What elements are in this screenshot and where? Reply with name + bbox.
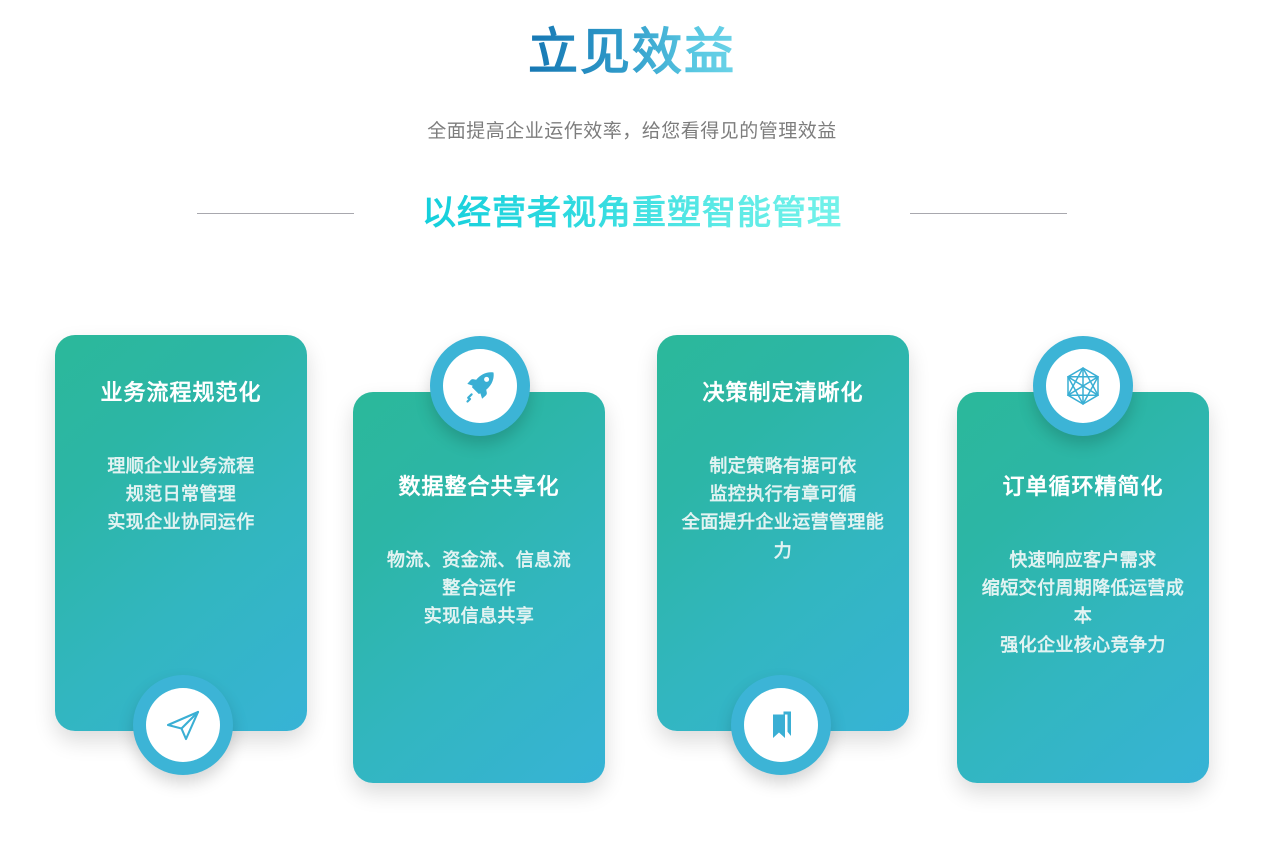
- card-description: 理顺企业业务流程 规范日常管理 实现企业协同运作: [71, 408, 291, 537]
- divider-left: [197, 213, 354, 214]
- benefit-card[interactable]: 数据整合共享化 物流、资金流、信息流 整合运作 实现信息共享: [353, 392, 605, 783]
- section-heading: 以经营者视角重塑智能管理: [422, 195, 842, 232]
- page-header: 立见效益 全面提高企业运作效率，给您看得见的管理效益 以经营者视角重塑智能管理: [0, 0, 1264, 232]
- icon-badge-inner: [443, 349, 517, 423]
- card-description: 制定策略有据可依 监控执行有章可循 全面提升企业运营管理能力: [673, 408, 893, 566]
- card-title: 决策制定清晰化: [673, 335, 893, 408]
- page-title: 立见效益: [528, 24, 736, 82]
- benefit-card[interactable]: 决策制定清晰化 制定策略有据可依 监控执行有章可循 全面提升企业运营管理能力: [657, 335, 909, 731]
- rocket-icon: [460, 366, 500, 406]
- benefit-card[interactable]: 订单循环精简化 快速响应客户需求 缩短交付周期降低运营成本 强化企业核心竞争力: [957, 392, 1209, 783]
- hexagon-network-icon: [1061, 364, 1105, 408]
- divider-right: [910, 213, 1067, 214]
- section-heading-row: 以经营者视角重塑智能管理: [0, 195, 1264, 232]
- icon-badge-inner: [146, 688, 220, 762]
- card-description: 物流、资金流、信息流 整合运作 实现信息共享: [369, 502, 589, 631]
- icon-badge-inner: [1046, 349, 1120, 423]
- page-subtitle: 全面提高企业运作效率，给您看得见的管理效益: [0, 82, 1264, 143]
- bookmark-icon: [761, 705, 801, 745]
- card-icon-badge[interactable]: [731, 675, 831, 775]
- paper-plane-icon: [163, 705, 203, 745]
- benefit-card[interactable]: 业务流程规范化 理顺企业业务流程 规范日常管理 实现企业协同运作: [55, 335, 307, 731]
- card-icon-badge[interactable]: [133, 675, 233, 775]
- card-title: 业务流程规范化: [71, 335, 291, 408]
- card-icon-badge[interactable]: [430, 336, 530, 436]
- icon-badge-inner: [744, 688, 818, 762]
- card-description: 快速响应客户需求 缩短交付周期降低运营成本 强化企业核心竞争力: [973, 502, 1193, 660]
- card-icon-badge[interactable]: [1033, 336, 1133, 436]
